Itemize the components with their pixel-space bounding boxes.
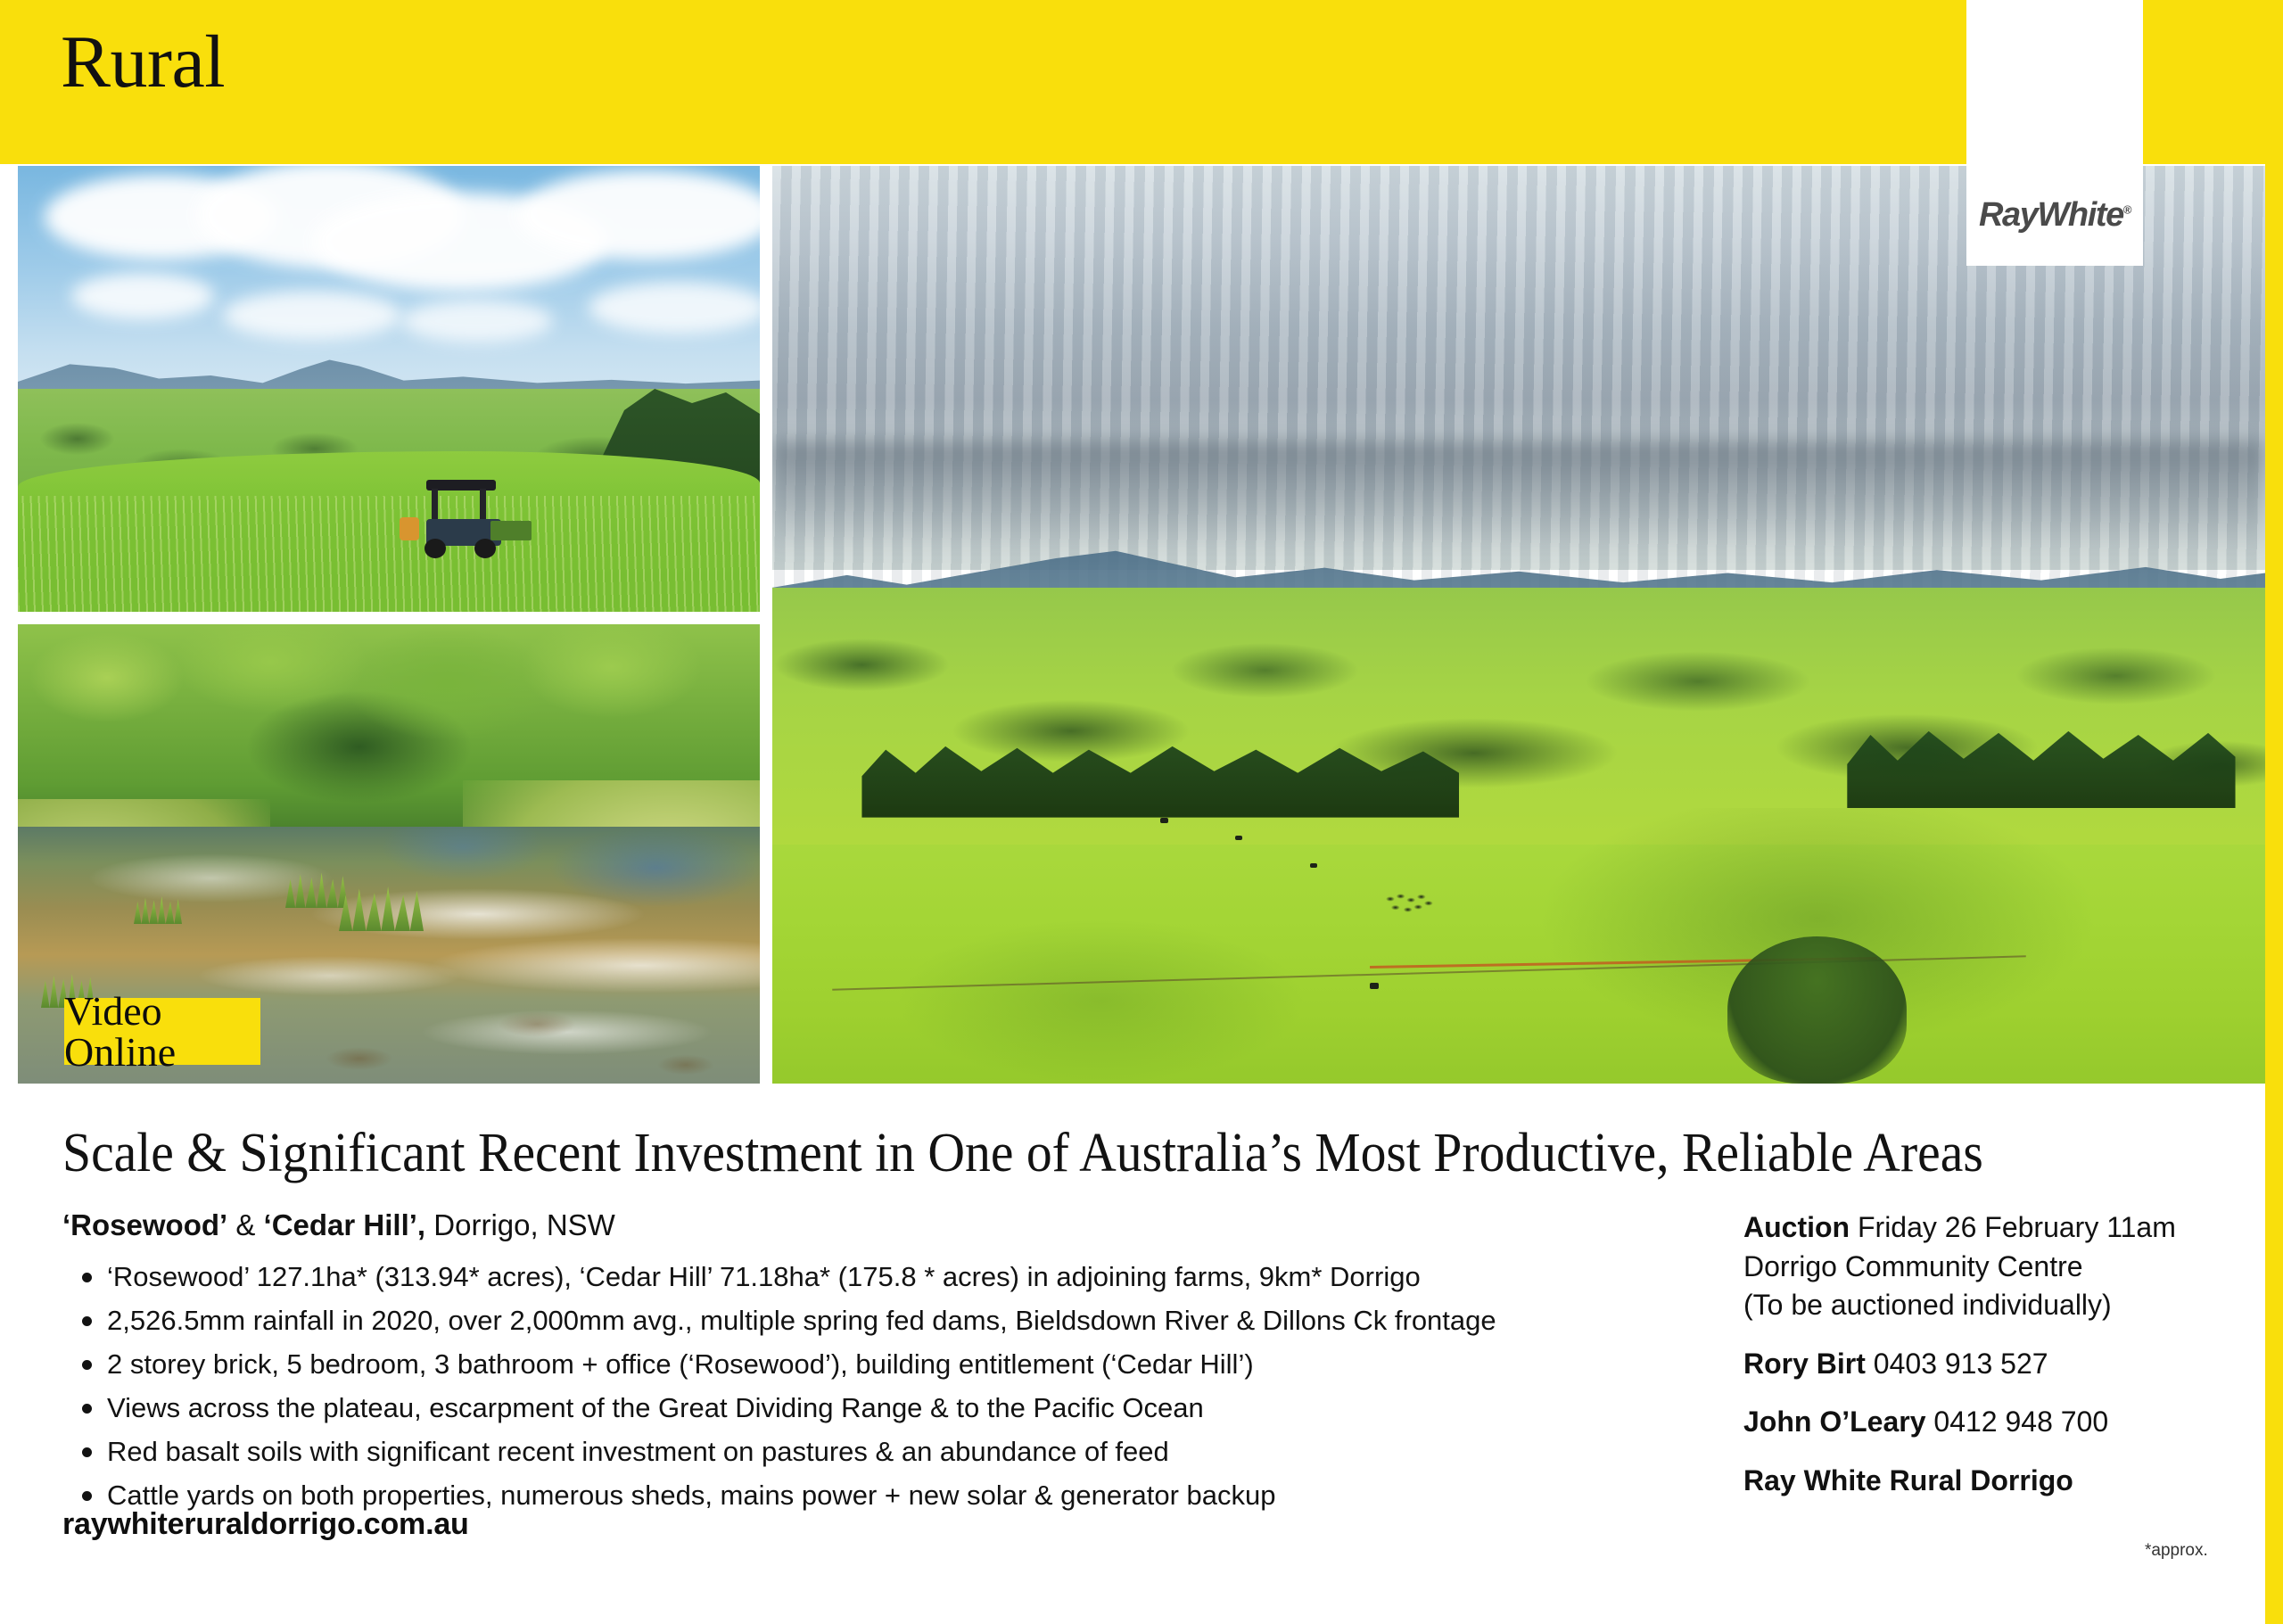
farm-buggy bbox=[421, 480, 524, 565]
listing-content: Scale & Significant Recent Investment in… bbox=[0, 1106, 2265, 1624]
property-name-two: ‘Cedar Hill’, bbox=[264, 1208, 426, 1241]
auction-note: (To be auctioned individually) bbox=[1743, 1287, 2243, 1324]
cattle-herd bbox=[1384, 891, 1436, 918]
cloud bbox=[401, 300, 553, 342]
advertisement-page: Rural bbox=[0, 0, 2283, 1624]
website-link[interactable]: raywhiteruraldorrigo.com.au bbox=[62, 1507, 469, 1542]
agent-two-name: John O’Leary bbox=[1743, 1406, 1926, 1438]
agent-one-name: Rory Birt bbox=[1743, 1348, 1866, 1380]
buggy-wheel bbox=[474, 539, 496, 558]
cloud bbox=[589, 282, 760, 334]
list-item: 2,526.5mm rainfall in 2020, over 2,000mm… bbox=[62, 1303, 1694, 1338]
grass-texture bbox=[18, 496, 760, 612]
list-item: ‘Rosewood’ 127.1ha* (313.94* acres), ‘Ce… bbox=[62, 1259, 1694, 1294]
video-online-label: Video Online bbox=[64, 991, 260, 1073]
dark-cloud-band bbox=[772, 441, 2265, 551]
header-band: Rural bbox=[0, 0, 1966, 164]
list-item: Red basalt soils with significant recent… bbox=[62, 1434, 1694, 1469]
buggy-wheel bbox=[424, 539, 446, 558]
photo-aerial-panorama bbox=[772, 166, 2265, 1084]
feature-list: ‘Rosewood’ 127.1ha* (313.94* acres), ‘Ce… bbox=[62, 1259, 1694, 1521]
raywhite-logo: RayWhite® bbox=[1979, 196, 2131, 235]
agent-one: Rory Birt 0403 913 527 bbox=[1743, 1346, 2243, 1383]
logo-box: RayWhite® bbox=[1966, 164, 2143, 266]
buggy-driver bbox=[400, 517, 419, 540]
cattle bbox=[1160, 818, 1168, 823]
right-accent-strip bbox=[2265, 0, 2283, 1624]
scrub-patch bbox=[1727, 936, 1907, 1084]
agent-two: John O’Leary 0412 948 700 bbox=[1743, 1404, 2243, 1441]
agent-two-phone[interactable]: 0412 948 700 bbox=[1926, 1406, 2109, 1438]
list-item: Views across the plateau, escarpment of … bbox=[62, 1390, 1694, 1425]
cattle bbox=[1235, 836, 1242, 840]
listing-headline: Scale & Significant Recent Investment in… bbox=[62, 1125, 2078, 1182]
cattle bbox=[1370, 983, 1379, 989]
property-subheading: ‘Rosewood’ & ‘Cedar Hill’, Dorrigo, NSW bbox=[62, 1208, 615, 1243]
property-location: Dorrigo, NSW bbox=[425, 1208, 615, 1241]
paddock-shadow bbox=[772, 808, 2265, 1084]
video-online-badge[interactable]: Video Online bbox=[64, 998, 260, 1065]
ampersand: & bbox=[227, 1208, 263, 1241]
approx-footnote: *approx. bbox=[2145, 1541, 2208, 1561]
auction-label: Auction bbox=[1743, 1211, 1850, 1243]
auction-datetime: Friday 26 February 11am bbox=[1850, 1211, 2176, 1243]
auction-contact-block: Auction Friday 26 February 11am Dorrigo … bbox=[1743, 1209, 2243, 1502]
buggy-implement bbox=[490, 521, 532, 540]
cloud bbox=[223, 291, 401, 340]
cloud bbox=[71, 273, 214, 319]
office-name: Ray White Rural Dorrigo bbox=[1743, 1463, 2243, 1500]
registered-icon: ® bbox=[2123, 202, 2131, 216]
logo-box-top bbox=[1966, 0, 2143, 164]
office-name-label: Ray White Rural Dorrigo bbox=[1743, 1464, 2073, 1496]
auction-venue: Dorrigo Community Centre bbox=[1743, 1249, 2243, 1286]
agent-one-phone[interactable]: 0403 913 527 bbox=[1866, 1348, 2048, 1380]
cloud bbox=[517, 170, 760, 260]
page-title: Rural bbox=[61, 25, 225, 100]
cattle bbox=[1310, 863, 1317, 868]
photo-pasture-hills bbox=[18, 166, 760, 612]
auction-line: Auction Friday 26 February 11am bbox=[1743, 1209, 2243, 1247]
raywhite-logo-text: RayWhite bbox=[1979, 196, 2123, 234]
list-item: 2 storey brick, 5 bedroom, 3 bathroom + … bbox=[62, 1347, 1694, 1381]
property-name-one: ‘Rosewood’ bbox=[62, 1208, 227, 1241]
